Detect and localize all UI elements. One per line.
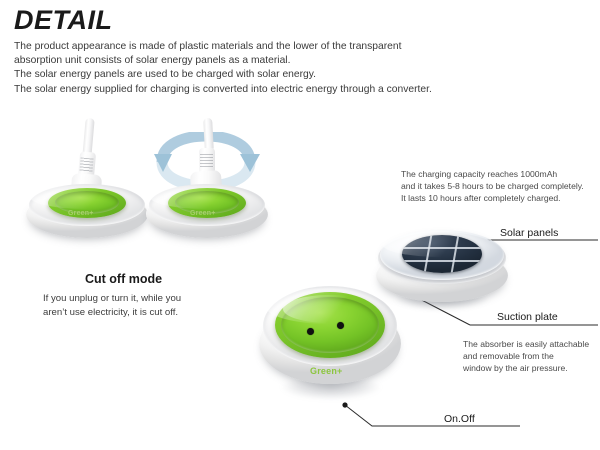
cell-grid-line	[424, 235, 433, 273]
plug-ribs	[200, 154, 213, 167]
cut-off-mode-caption: If you unplug or turn it, while you aren…	[43, 292, 273, 319]
on-off-leader	[345, 405, 520, 426]
cut-off-mode-heading: Cut off mode	[85, 272, 162, 286]
note-line: window by the air pressure.	[463, 362, 600, 374]
plug-ribs	[79, 157, 93, 172]
callout-solar-panels: Solar panels	[500, 227, 558, 239]
note-line: It lasts 10 hours after completely charg…	[401, 192, 600, 204]
device-plug-twist: Green+	[132, 118, 272, 243]
intro-paragraph: The product appearance is made of plasti…	[14, 40, 534, 97]
note-line: and removable from the	[463, 350, 600, 362]
intro-line: absorption unit consists of solar energy…	[14, 54, 534, 68]
cell-grid-line	[451, 235, 460, 273]
note-line: and it takes 5-8 hours to be charged com…	[401, 180, 600, 192]
page-title: DETAIL	[14, 7, 113, 34]
intro-line: The solar energy supplied for charging i…	[14, 83, 534, 97]
cell-grid-line	[402, 247, 482, 249]
callout-suction-plate: Suction plate	[497, 311, 558, 323]
brand-logo: Green+	[68, 210, 94, 217]
caption-line: aren’t use electricity, it is cut off.	[43, 306, 273, 320]
solar-cell	[402, 235, 482, 273]
note-line: The absorber is easily attachable	[463, 338, 600, 350]
brand-logo: Green+	[310, 366, 342, 376]
brand-logo: Green+	[190, 210, 216, 217]
socket-hole-left[interactable]	[307, 328, 314, 335]
intro-line: The solar energy panels are used to be c…	[14, 68, 534, 82]
callout-on-off: On.Off	[444, 413, 475, 425]
note-line: The charging capacity reaches 1000mAh	[401, 168, 600, 180]
absorber-note: The absorber is easily attachable and re…	[463, 338, 600, 375]
caption-line: If you unplug or turn it, while you	[43, 292, 273, 306]
device-main-socket: Green+	[255, 278, 405, 408]
charging-capacity-note: The charging capacity reaches 1000mAh an…	[401, 168, 600, 205]
socket-hole-right[interactable]	[337, 322, 344, 329]
socket-recess	[281, 297, 379, 353]
intro-line: The product appearance is made of plasti…	[14, 40, 534, 54]
cell-grid-line	[402, 260, 482, 262]
detail-slide: DETAIL The product appearance is made of…	[0, 0, 600, 450]
